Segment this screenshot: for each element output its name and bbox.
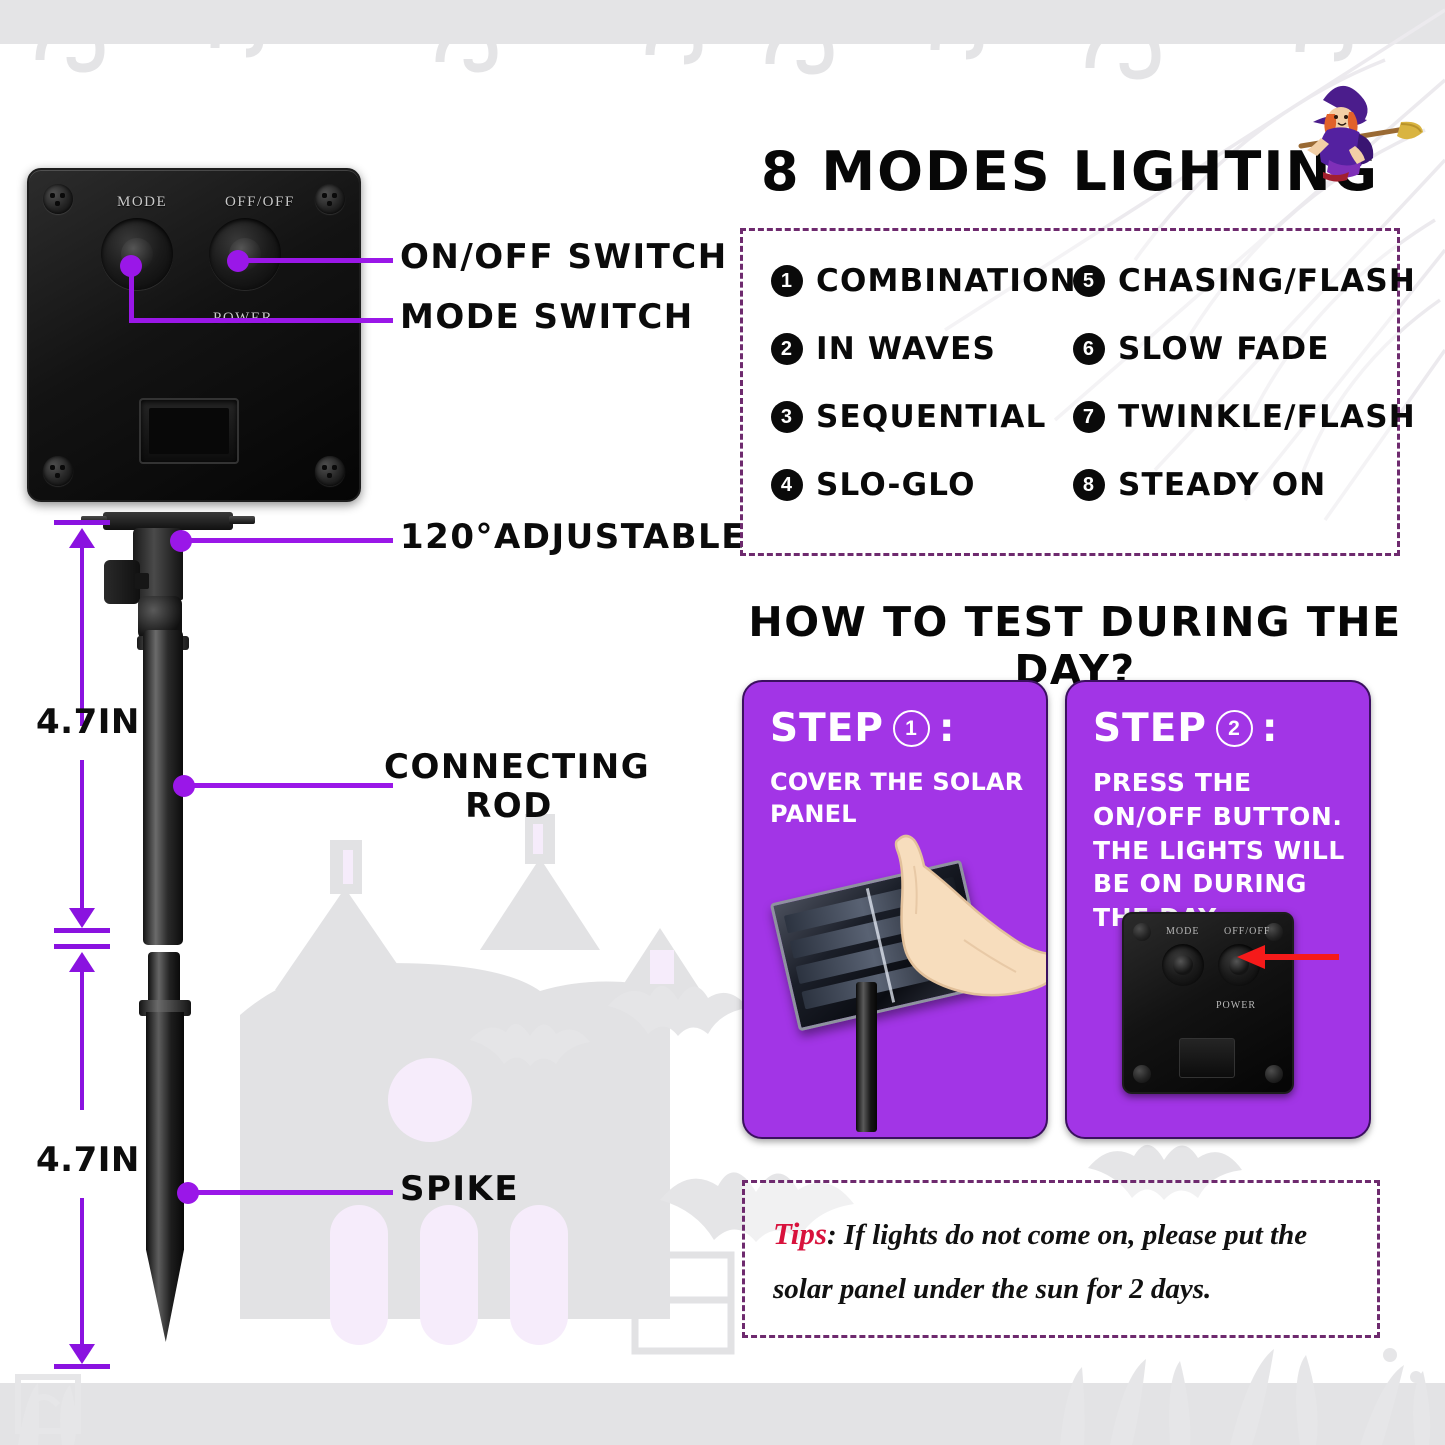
mode-label-4: SLO-GLO [816,467,976,503]
screw-icon [315,184,345,214]
mode-label-1: COMBINATION [816,263,1077,299]
screw-icon [1133,923,1151,941]
dim-cap-top [54,520,110,525]
dim-cap-mid [54,928,110,933]
mode-number-7: 7 [1073,401,1105,433]
callout-rod-line1: CONNECTING [384,748,634,787]
info-column: 8 MODES LIGHTING 1 COMBINATION [730,0,1445,1445]
callout-line-rod [184,783,393,788]
mode-number-2: 2 [771,333,803,365]
tips-text: Tips: If lights do not come on, please p… [773,1205,1353,1316]
step1-colon: : [939,706,956,751]
step1-heading: STEP 1 : [770,706,956,751]
mode-item-1: 1 COMBINATION [771,263,1077,299]
screw-icon [315,456,345,486]
screw-icon [43,456,73,486]
step1-word: STEP [770,706,884,751]
mini-power-label: POWER [1216,1000,1256,1011]
step2-number: 2 [1216,710,1253,747]
infographic-page: MODE OFF/OFF POWER 4.7IN 4.7IN [0,0,1445,1445]
callout-label-connecting-rod: CONNECTING ROD [384,748,634,826]
dimension-spike-length: 4.7IN [36,1140,140,1180]
adjust-knob [104,560,140,604]
offoff-text-label: OFF/OFF [225,194,295,211]
mode-number-4: 4 [771,469,803,501]
callout-line-onoff [238,258,393,263]
callout-label-mode-switch: MODE SWITCH [400,298,694,337]
ground-spike [146,1012,184,1342]
screw-icon [1133,1065,1151,1083]
callout-line-mode [129,318,393,323]
callout-vline-mode [129,266,134,321]
step-card-2: STEP 2 : PRESS THE ON/OFF BUTTON. THE LI… [1065,680,1371,1139]
red-arrow-icon [1235,944,1340,970]
dim2-line-upper [80,970,84,1110]
step1-body: COVER THE SOLAR PANEL [770,766,1032,831]
mode-label-5: CHASING/FLASH [1118,263,1416,299]
mode-text-label: MODE [117,194,167,211]
callout-line-adjustable [181,538,393,543]
mode-number-8: 8 [1073,469,1105,501]
dim-line-lower [80,760,84,910]
tips-body: If lights do not come on, please put the… [773,1219,1307,1305]
solar-control-box: MODE OFF/OFF POWER [27,168,361,502]
step2-word: STEP [1093,706,1207,751]
callout-rod-line2: ROD [384,787,634,826]
step2-body: PRESS THE ON/OFF BUTTON. THE LIGHTS WILL… [1093,766,1355,935]
dim-cap-mid2 [54,944,110,949]
mode-number-6: 6 [1073,333,1105,365]
screw-icon [43,184,73,214]
dim-line-upper [80,546,84,726]
mode-item-8: 8 STEADY ON [1073,467,1326,503]
mode-item-3: 3 SEQUENTIAL [771,399,1047,435]
witch-icon [1283,72,1423,182]
mode-number-1: 1 [771,265,803,297]
step2-heading: STEP 2 : [1093,706,1279,751]
mini-control-box: MODE OFF/OFF POWER [1122,912,1294,1094]
mode-label-3: SEQUENTIAL [816,399,1047,435]
battery-port [139,398,239,464]
mode-number-3: 3 [771,401,803,433]
dimension-rod-length: 4.7IN [36,702,140,742]
callout-label-spike: SPIKE [400,1170,519,1209]
mini-battery-port [1179,1038,1235,1078]
dim2-line-lower [80,1198,84,1346]
mode-item-4: 4 SLO-GLO [771,467,976,503]
dim2-arrow-down [69,1344,95,1364]
callout-label-adjustable: 120°ADJUSTABLE [400,518,746,557]
mode-item-7: 7 TWINKLE/FLASH [1073,399,1416,435]
mode-item-5: 5 CHASING/FLASH [1073,263,1416,299]
step-card-1: STEP 1 : COVER THE SOLAR PANEL [742,680,1048,1139]
mode-label-7: TWINKLE/FLASH [1118,399,1416,435]
mode-item-2: 2 IN WAVES [771,331,996,367]
mini-mode-label: MODE [1166,926,1199,937]
screw-icon [1265,1065,1283,1083]
dim-arrow-up [69,528,95,548]
mode-item-6: 6 SLOW FADE [1073,331,1330,367]
mode-button[interactable] [101,218,173,290]
dim-cap-bottom [54,1364,110,1369]
dim2-arrow-up [69,952,95,972]
spike-top [148,952,180,1004]
mini-offoff-label: OFF/OFF [1224,926,1270,937]
tips-box: Tips: If lights do not come on, please p… [742,1180,1380,1338]
step2-colon: : [1262,706,1279,751]
dim-arrow-down [69,908,95,928]
product-diagram-column: MODE OFF/OFF POWER 4.7IN 4.7IN [0,0,730,1445]
mode-label-6: SLOW FADE [1118,331,1330,367]
callout-line-spike [188,1190,393,1195]
mini-mode-button[interactable] [1162,944,1204,986]
tips-word: Tips [773,1216,827,1251]
callout-label-on-off-switch: ON/OFF SWITCH [400,238,728,277]
hand-icon [864,832,1048,1047]
mode-label-2: IN WAVES [816,331,996,367]
mode-label-8: STEADY ON [1118,467,1326,503]
step1-number: 1 [893,710,930,747]
modes-list-box: 1 COMBINATION 2 IN WAVES 3 SEQUENTIAL 4 … [740,228,1400,556]
tips-separator: : [827,1219,837,1251]
mode-number-5: 5 [1073,265,1105,297]
